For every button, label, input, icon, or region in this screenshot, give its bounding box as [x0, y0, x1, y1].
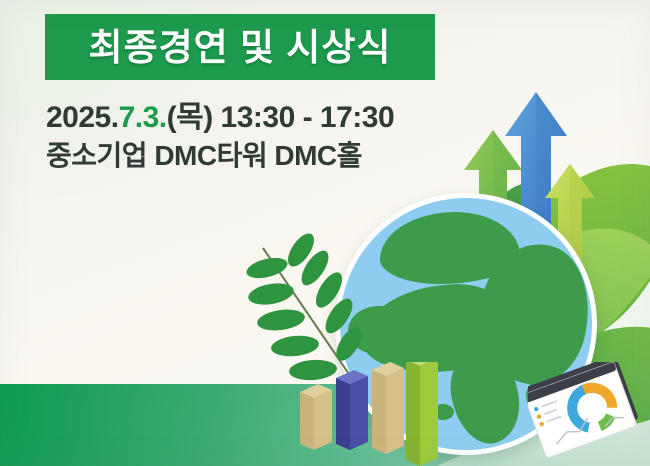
bar-4: [406, 362, 438, 466]
bar-3: [372, 362, 404, 454]
event-weekday-time: (목) 13:30 - 17:30: [167, 101, 395, 134]
title-banner: 최종경연 및 시상식: [45, 14, 435, 80]
analytics-dashboard-card: [528, 362, 646, 466]
bar-1: [300, 384, 332, 450]
event-venue: 중소기업 DMC타워 DMC홀: [46, 138, 466, 174]
event-poster: 최종경연 및 시상식 2025.7.3.(목) 13:30 - 17:30 중소…: [0, 0, 650, 466]
event-month-day: 7.3.: [119, 101, 167, 134]
event-info-block: 2025.7.3.(목) 13:30 - 17:30 중소기업 DMC타워 DM…: [46, 100, 466, 174]
landmass-island-2: [530, 326, 556, 346]
event-datetime-line: 2025.7.3.(목) 13:30 - 17:30: [46, 100, 466, 136]
event-year: 2025.: [46, 101, 119, 134]
bar-2: [336, 370, 368, 450]
page-title: 최종경연 및 시상식: [89, 29, 392, 66]
bar-chart-3d: [296, 362, 446, 466]
